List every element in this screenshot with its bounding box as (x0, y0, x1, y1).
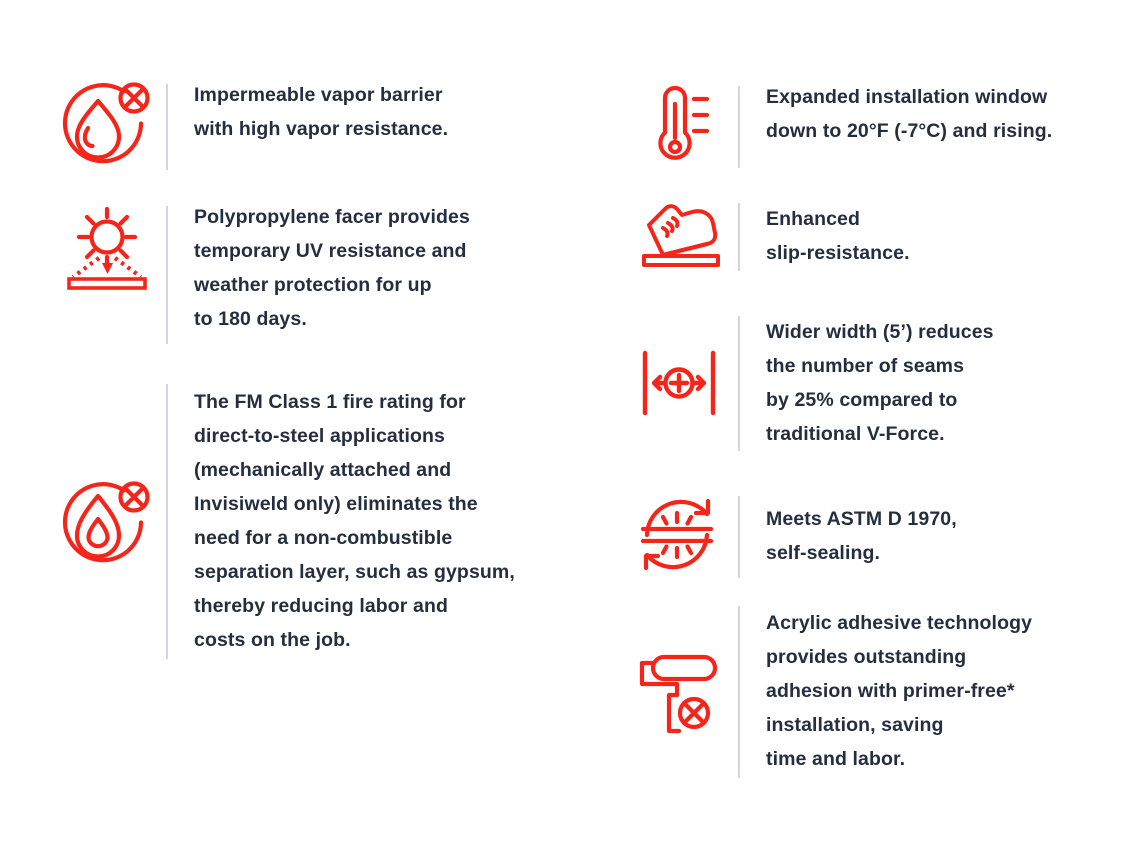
feature-text-line: installation, saving (766, 708, 1120, 742)
sun-uv-surface-icon-cell (48, 200, 166, 292)
feature-text-acrylic-adhesive: Acrylic adhesive technology provides out… (740, 606, 1120, 776)
feature-text-line: need for a non-combustible (194, 521, 578, 555)
feature-text-line: Wider width (5’) reduces (766, 315, 1120, 349)
feature-text-line: weather protection for up (194, 268, 578, 302)
feature-text-line: The FM Class 1 fire rating for (194, 385, 578, 419)
feature-text-line: with high vapor resistance. (194, 112, 578, 146)
feature-text-line: adhesion with primer-free* (766, 674, 1120, 708)
feature-text-line: traditional V-Force. (766, 417, 1120, 451)
feature-list-page: Impermeable vapor barrier with high vapo… (0, 0, 1130, 854)
thermometer-icon-cell (620, 80, 738, 166)
feature-text-line: Meets ASTM D 1970, (766, 502, 1120, 536)
feature-text-line: costs on the job. (194, 623, 578, 657)
flame-no-icon (61, 477, 153, 565)
boot-slip-resistance-icon (629, 198, 729, 274)
flame-no-icon-cell (48, 477, 166, 565)
feature-item-acrylic-adhesive: Acrylic adhesive technology provides out… (620, 600, 1120, 782)
feature-item-uv-resistance: Polypropylene facer provides temporary U… (48, 200, 578, 348)
feature-item-wider-width: Wider width (5’) reduces the number of s… (620, 310, 1120, 455)
feature-item-installation-window: Expanded installation window down to 20°… (620, 80, 1120, 172)
feature-text-line: Enhanced (766, 202, 1120, 236)
feature-text-line: Acrylic adhesive technology (766, 606, 1120, 640)
feature-text-line: Invisiweld only) eliminates the (194, 487, 578, 521)
thermometer-icon (637, 80, 721, 166)
feature-text-line: (mechanically attached and (194, 453, 578, 487)
feature-item-vapor-barrier: Impermeable vapor barrier with high vapo… (48, 78, 578, 174)
feature-text-uv-resistance: Polypropylene facer provides temporary U… (168, 200, 578, 336)
feature-text-self-sealing: Meets ASTM D 1970, self-sealing. (740, 502, 1120, 570)
feature-item-fire-rating: The FM Class 1 fire rating for direct-to… (48, 378, 578, 663)
feature-text-vapor-barrier: Impermeable vapor barrier with high vapo… (168, 78, 578, 146)
feature-text-wider-width: Wider width (5’) reduces the number of s… (740, 315, 1120, 451)
width-arrows-icon-cell (620, 345, 738, 421)
feature-text-line: self-sealing. (766, 536, 1120, 570)
feature-text-line: Polypropylene facer provides (194, 200, 578, 234)
boot-slip-resistance-icon-cell (620, 198, 738, 274)
feature-text-installation-window: Expanded installation window down to 20°… (740, 80, 1120, 148)
feature-text-line: separation layer, such as gypsum, (194, 555, 578, 589)
feature-text-slip-resistance: Enhanced slip-resistance. (740, 202, 1120, 270)
self-sealing-cycle-icon-cell (620, 492, 738, 580)
paint-roller-no-primer-icon (631, 643, 727, 739)
feature-text-line: the number of seams (766, 349, 1120, 383)
feature-text-line: direct-to-steel applications (194, 419, 578, 453)
feature-text-line: slip-resistance. (766, 236, 1120, 270)
feature-text-line: thereby reducing labor and (194, 589, 578, 623)
width-arrows-icon (631, 345, 727, 421)
feature-text-line: to 180 days. (194, 302, 578, 336)
paint-roller-no-primer-icon-cell (620, 643, 738, 739)
water-drop-no-icon-cell (48, 78, 166, 166)
feature-text-line: by 25% compared to (766, 383, 1120, 417)
self-sealing-cycle-icon (633, 492, 725, 580)
feature-item-slip-resistance: Enhanced slip-resistance. (620, 197, 1120, 275)
feature-text-fire-rating: The FM Class 1 fire rating for direct-to… (168, 385, 578, 657)
feature-text-line: temporary UV resistance and (194, 234, 578, 268)
feature-text-line: time and labor. (766, 742, 1120, 776)
sun-uv-surface-icon (61, 200, 153, 292)
feature-text-line: down to 20°F (-7°C) and rising. (766, 114, 1120, 148)
feature-text-line: provides outstanding (766, 640, 1120, 674)
feature-item-self-sealing: Meets ASTM D 1970, self-sealing. (620, 490, 1120, 582)
feature-text-line: Impermeable vapor barrier (194, 78, 578, 112)
water-drop-no-icon (61, 78, 153, 166)
feature-text-line: Expanded installation window (766, 80, 1120, 114)
